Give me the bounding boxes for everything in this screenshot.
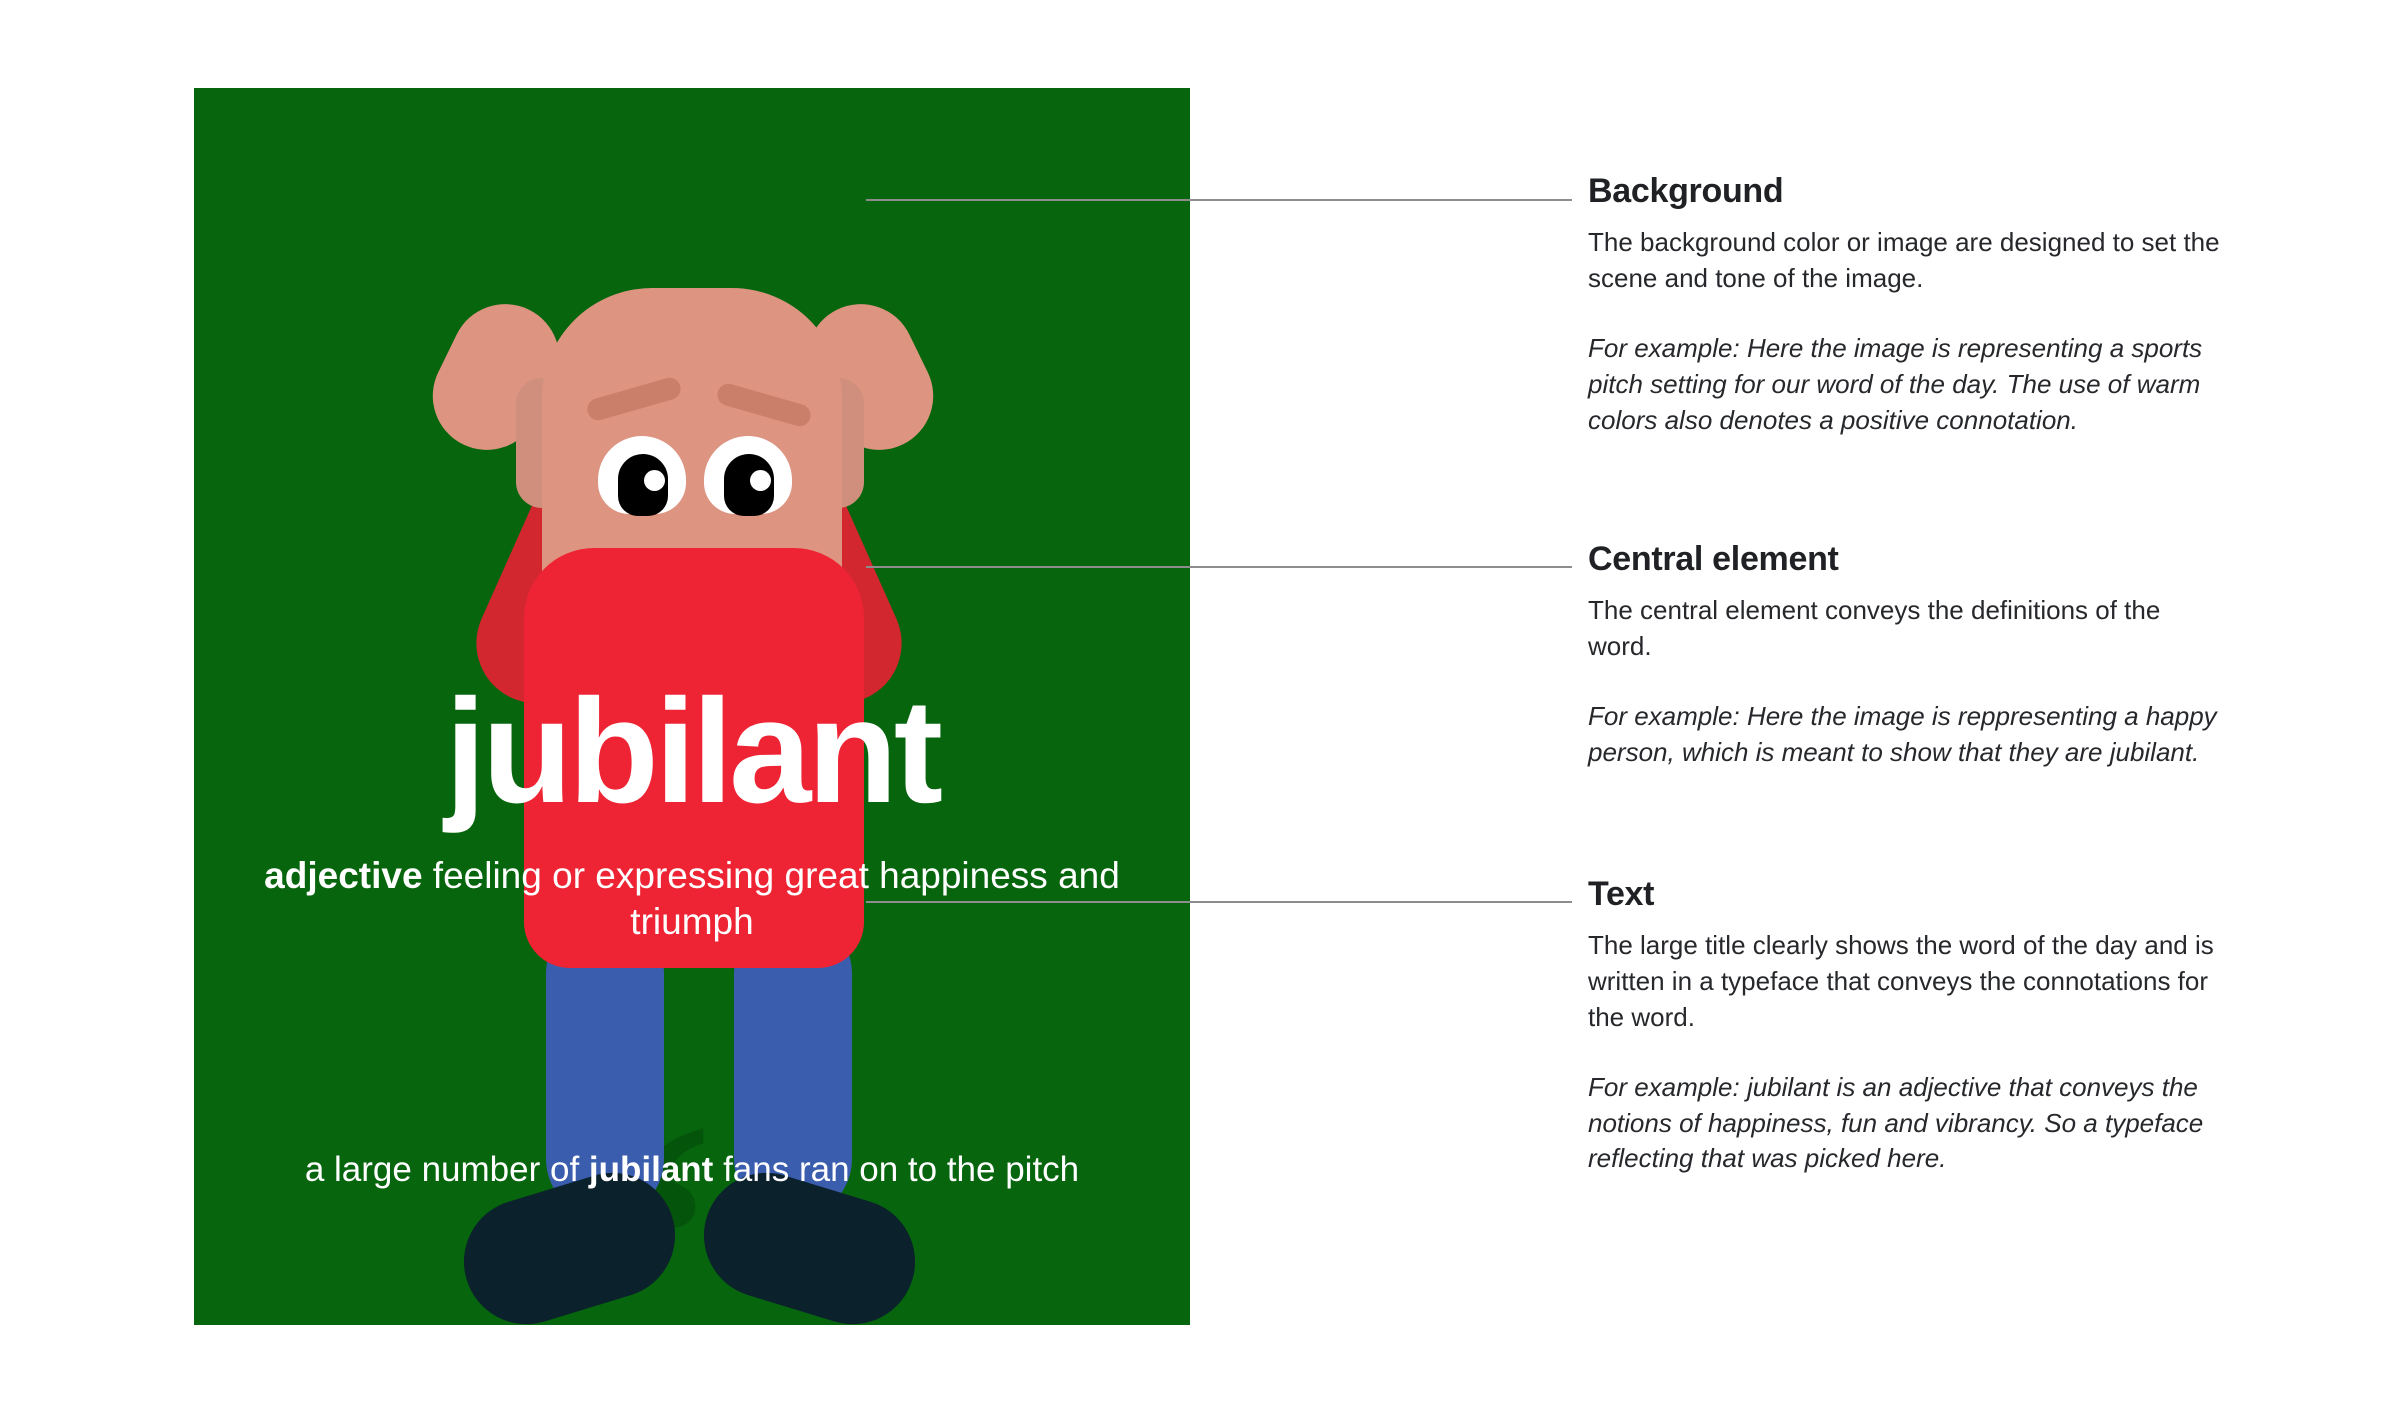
- annotation-background-title: Background: [1588, 172, 2228, 211]
- leader-line-central-element: [866, 566, 1572, 568]
- poster-example-prefix: a large number of: [305, 1150, 589, 1189]
- word-of-the-day-poster: “ jubilant adjective feeling or expressi…: [194, 88, 1190, 1325]
- poster-definition: adjective feeling or expressing great ha…: [254, 853, 1130, 945]
- leader-line-background: [866, 199, 1572, 201]
- annotation-text-title: Text: [1588, 875, 2228, 914]
- annotation-background-example: For example: Here the image is represent…: [1588, 331, 2228, 439]
- poster-definition-text: feeling or expressing great happiness an…: [423, 855, 1120, 942]
- annotation-central-element: Central element The central element conv…: [1588, 540, 2228, 771]
- annotation-background-body: The background color or image are design…: [1588, 225, 2228, 297]
- annotation-central-element-title: Central element: [1588, 540, 2228, 579]
- annotation-central-element-body: The central element conveys the definiti…: [1588, 593, 2228, 665]
- character-eye-highlight-left: [644, 470, 665, 491]
- leader-line-text: [866, 901, 1572, 903]
- poster-example-suffix: fans ran on to the pitch: [713, 1150, 1079, 1189]
- annotation-text: Text The large title clearly shows the w…: [1588, 875, 2228, 1177]
- poster-example-highlight: jubilant: [589, 1150, 713, 1189]
- annotation-background: Background The background color or image…: [1588, 172, 2228, 438]
- poster-word-title: jubilant: [194, 678, 1190, 826]
- poster-example-sentence: a large number of jubilant fans ran on t…: [264, 1148, 1120, 1192]
- character-eye-highlight-right: [750, 470, 771, 491]
- annotation-text-body: The large title clearly shows the word o…: [1588, 928, 2228, 1036]
- annotation-central-element-example: For example: Here the image is reppresen…: [1588, 699, 2228, 771]
- poster-part-of-speech: adjective: [264, 855, 422, 896]
- annotation-text-example: For example: jubilant is an adjective th…: [1588, 1070, 2228, 1178]
